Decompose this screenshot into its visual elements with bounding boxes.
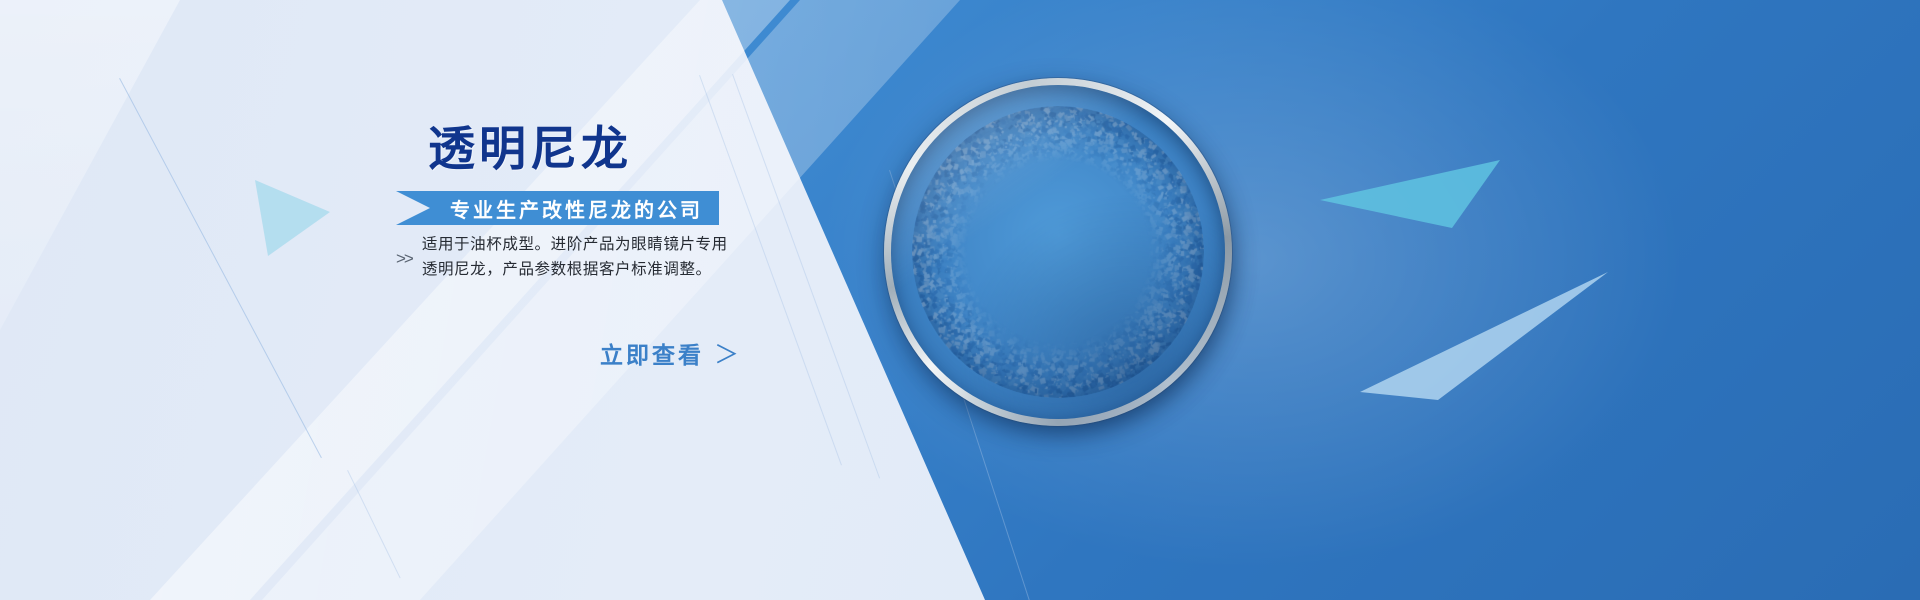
description-line-2: 透明尼龙，产品参数根据客户标准调整。	[422, 257, 728, 282]
view-now-label: 立即查看	[600, 336, 704, 370]
product-image-petri-dish	[884, 78, 1232, 426]
double-chevron-icon: >>	[396, 249, 412, 269]
chevron-right-icon: ＞	[714, 335, 739, 371]
cyan-triangle-left	[255, 180, 330, 256]
cyan-triangle-right	[1320, 160, 1500, 228]
view-now-button[interactable]: 立即查看 ＞	[600, 335, 739, 371]
ribbon-label: 专业生产改性尼龙的公司	[396, 191, 719, 225]
pale-triangle-lower	[1360, 272, 1608, 400]
hero-banner: 透明尼龙 专业生产改性尼龙的公司 >> 适用于油杯成型。进阶产品为眼睛镜片专用 …	[0, 0, 1920, 600]
ribbon-banner: 专业生产改性尼龙的公司	[396, 191, 719, 225]
description-block: >> 适用于油杯成型。进阶产品为眼睛镜片专用 透明尼龙，产品参数根据客户标准调整…	[396, 232, 728, 282]
dish-interior	[891, 85, 1225, 419]
description-line-1: 适用于油杯成型。进阶产品为眼睛镜片专用	[422, 232, 728, 257]
page-title: 透明尼龙	[300, 125, 760, 172]
description-text: 适用于油杯成型。进阶产品为眼睛镜片专用 透明尼龙，产品参数根据客户标准调整。	[422, 232, 728, 282]
nylon-pellets	[912, 106, 1204, 398]
